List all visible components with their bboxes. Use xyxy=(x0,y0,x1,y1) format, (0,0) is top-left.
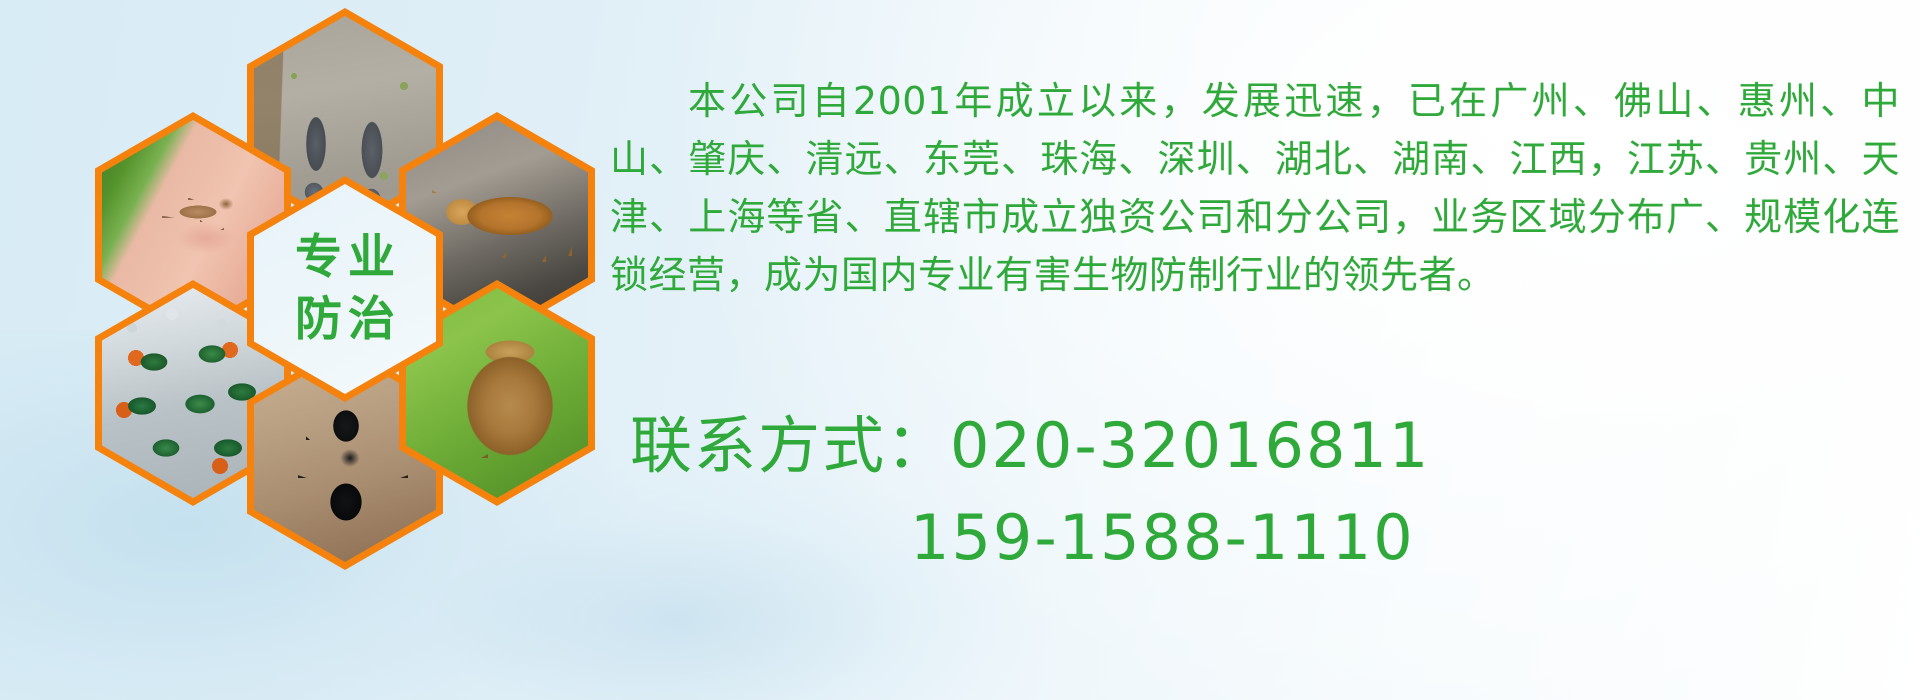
contact-line-primary[interactable]: 联系方式：020-32016811 xyxy=(630,400,1910,492)
pest-control-banner: 专业 防治 本公司自2001年成立以来，发展迅速，已在广州、佛山、惠州、中山、肇… xyxy=(0,0,1920,700)
hexagon-collage: 专业 防治 xyxy=(95,8,595,568)
contact-block: 联系方式：020-32016811 159-1588-1110 xyxy=(630,400,1910,584)
company-intro-paragraph: 本公司自2001年成立以来，发展迅速，已在广州、佛山、惠州、中山、肇庆、清远、东… xyxy=(610,72,1900,304)
contact-line-secondary[interactable]: 159-1588-1110 xyxy=(630,492,1910,584)
company-intro-block: 本公司自2001年成立以来，发展迅速，已在广州、佛山、惠州、中山、肇庆、清远、东… xyxy=(610,34,1900,342)
hex-image-frame xyxy=(254,184,436,394)
